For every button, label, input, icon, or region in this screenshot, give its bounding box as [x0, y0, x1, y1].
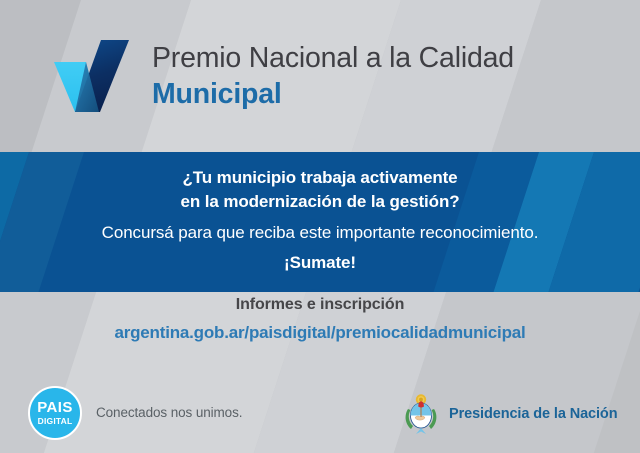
banner-subtitle: Concursá para que reciba este importante…	[0, 223, 640, 243]
blue-message-strip: ¿Tu municipio trabaja activamente en la …	[0, 152, 640, 292]
info-section: Informes e inscripción argentina.gob.ar/…	[0, 296, 640, 343]
banner-cta: ¡Sumate!	[0, 253, 640, 273]
presidencia-branding: Presidencia de la Nación	[402, 393, 617, 435]
banner-header: Premio Nacional a la Calidad Municipal	[0, 0, 640, 152]
presidencia-label: Presidencia de la Nación	[449, 406, 617, 422]
info-heading: Informes e inscripción	[0, 296, 640, 314]
title-accent: Municipal	[152, 80, 514, 109]
checkmark-v-logo-icon	[52, 39, 130, 113]
pais-digital-circle-logo-icon[interactable]: PAIS DIGITAL	[28, 386, 82, 440]
pais-logo-line-2: DIGITAL	[38, 417, 73, 426]
promotional-banner: Premio Nacional a la Calidad Municipal ¿…	[0, 0, 640, 453]
footer-tagline: Conectados nos unimos.	[96, 405, 242, 420]
title-primary: Premio Nacional a la Calidad	[152, 44, 514, 73]
question-line-2: en la modernización de la gestión?	[0, 190, 640, 214]
banner-message: ¿Tu municipio trabaja activamente en la …	[0, 152, 640, 273]
info-url-link[interactable]: argentina.gob.ar/paisdigital/premiocalid…	[0, 323, 640, 343]
page-title: Premio Nacional a la Calidad Municipal	[152, 44, 514, 108]
pais-logo-line-1: PAIS	[37, 400, 73, 415]
banner-footer: PAIS DIGITAL Conectados nos unimos.	[0, 378, 640, 453]
question-line-1: ¿Tu municipio trabaja activamente	[0, 166, 640, 190]
argentina-coat-of-arms-icon	[402, 393, 440, 435]
